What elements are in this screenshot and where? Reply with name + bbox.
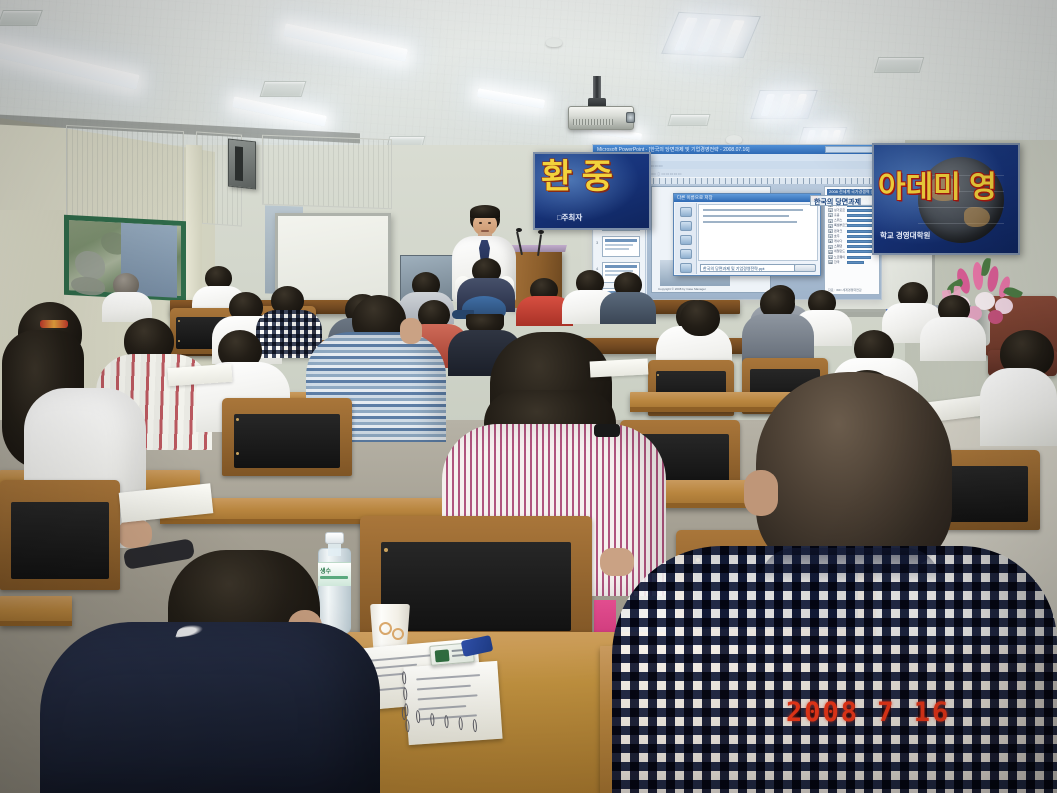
lecture-desk — [0, 596, 72, 626]
chart-bar-fill — [847, 256, 871, 259]
my-documents-icon[interactable] — [680, 235, 692, 245]
hand — [400, 318, 422, 344]
chart-bar-rank: 3 — [828, 213, 833, 217]
chart-bar-rank: 9 — [828, 245, 833, 249]
presenter-eye — [479, 222, 482, 224]
chart-bar-rank: 10 — [828, 250, 833, 254]
chart-title-text: 한국의 당면과제 — [814, 197, 861, 207]
head — [756, 372, 952, 572]
bottle-cap — [325, 532, 344, 544]
presenter-hair-top — [470, 205, 500, 218]
banner-left: 환 중 □주최자 — [533, 152, 651, 230]
chart-bar-label: 캐나다 — [834, 239, 842, 243]
chart-bar-label: 스웨덴 — [834, 244, 842, 248]
chart-bar-label: 네덜란드 — [834, 249, 845, 253]
lecture-chair — [0, 480, 120, 590]
banner-left-subtitle: □주최자 — [557, 212, 582, 223]
presenter-eye — [488, 222, 491, 224]
dialog-title-bar: 다른 이름으로 저장 — [674, 194, 820, 202]
chart-bar-label: 스위스 — [834, 218, 842, 222]
recent-documents-icon[interactable] — [680, 207, 692, 217]
my-computer-icon[interactable] — [680, 249, 692, 259]
cup-pattern-ring — [379, 622, 392, 635]
bottle-body — [318, 548, 351, 634]
wall-speaker — [228, 139, 256, 190]
wristwatch — [594, 424, 620, 437]
dialog-file-list[interactable] — [698, 204, 818, 261]
handout-paper — [590, 358, 649, 377]
network-icon[interactable] — [680, 263, 692, 273]
chart-bar-rank: 11 — [828, 255, 833, 259]
torso — [600, 292, 656, 324]
chart-caption: 자료 : IMD 세계경쟁력연감 — [828, 288, 862, 292]
chart-bar-rank: 5 — [828, 224, 833, 228]
desktop-icon[interactable] — [680, 221, 692, 231]
dialog-places-bar[interactable] — [675, 203, 697, 274]
torso — [612, 546, 1057, 793]
ceiling-vent — [260, 81, 307, 97]
lecture-hall-photo: Microsoft PowerPoint - [한국의 당면과제 및 기업경영전… — [0, 0, 1057, 793]
torso — [920, 317, 986, 361]
chart-bar-label: 홍콩 — [834, 213, 840, 217]
ear — [744, 470, 778, 516]
slide-thumbnail[interactable] — [602, 236, 640, 257]
microphone-head — [516, 228, 522, 232]
dialog-title-text: 다른 이름으로 저장 — [677, 195, 713, 201]
window-roller-blind[interactable] — [262, 135, 392, 210]
powerpoint-ruler — [647, 178, 881, 184]
chart-bar-fill — [847, 261, 864, 264]
projector-lens — [626, 112, 635, 123]
chart-bar-rank: 7 — [828, 234, 833, 238]
torso — [980, 368, 1057, 446]
slide-footer-text: Copyright © 2008 by Case Manager — [658, 287, 706, 291]
ceiling-projector — [568, 106, 634, 130]
filename-field[interactable]: 한국의 당면과제 및 기업경영전략.ppt — [700, 264, 795, 272]
smoke-detector — [726, 135, 742, 144]
ceiling-vent — [0, 10, 43, 26]
microphone-head — [538, 230, 544, 234]
shirt-collar — [760, 548, 940, 582]
banner-right-subtitle: 학교 경영대학원 — [880, 230, 930, 241]
chart-bar-rank: 2 — [828, 208, 833, 212]
chart-bar-label: 노르웨이 — [834, 255, 845, 259]
slide-number: 4 — [596, 266, 598, 271]
chart-bar-label: 룩셈부르크 — [834, 223, 848, 227]
chart-bar-fill — [847, 224, 875, 227]
torso — [40, 622, 380, 793]
ceiling-light-fixture — [661, 12, 761, 58]
chart-bar-label: 호주 — [834, 234, 840, 238]
spiral-binding — [396, 687, 499, 742]
smoke-detector — [546, 38, 562, 47]
chart-bar-label: 덴마크 — [834, 229, 842, 233]
chart-bar-label: 한국 — [834, 260, 840, 264]
bottle-label: 생수 — [318, 562, 351, 586]
banner-left-text: 환 중 — [541, 160, 613, 194]
ceiling-vent — [667, 114, 710, 126]
bottle-neck — [328, 542, 341, 556]
chart-bar-fill — [847, 230, 874, 233]
chart-bar-fill — [847, 235, 873, 238]
water-bottle: 생수 — [318, 532, 351, 634]
cup-pattern-ring — [392, 628, 404, 640]
lecture-chair — [222, 398, 352, 476]
chart-bar-rank: 6 — [828, 229, 833, 233]
torso — [256, 310, 322, 358]
head — [680, 300, 720, 336]
save-as-dialog[interactable]: 다른 이름으로 저장 한국의 당면과제 및 기업경영전략.ppt — [673, 193, 821, 276]
hand — [118, 520, 152, 548]
save-button[interactable] — [794, 264, 816, 272]
chart-bar-fill — [847, 250, 872, 253]
camera-date-stamp: 2008 7 16 — [786, 697, 950, 728]
ceiling-light-fixture — [750, 90, 817, 119]
chart-bar-rank: 8 — [828, 239, 833, 243]
chart-bar-label: 싱가포르 — [834, 208, 845, 212]
banner-right: 아데미 영 학교 경영대학원 — [872, 143, 1020, 255]
chart-bar-rank: 31 — [828, 260, 833, 264]
torso — [742, 314, 814, 364]
chart-bar-rank: 4 — [828, 219, 833, 223]
bottle-label-text: 생수 — [320, 566, 331, 575]
chart-bar-fill — [847, 245, 872, 248]
filename-value: 한국의 당면과제 및 기업경영전략.ppt — [703, 266, 765, 272]
hand — [600, 548, 634, 576]
hair-clip — [40, 320, 68, 328]
banner-right-text: 아데미 영 — [878, 173, 997, 203]
chart-bar-fill — [847, 240, 873, 243]
ceiling-vent — [874, 57, 925, 73]
slide-number: 3 — [596, 240, 598, 245]
